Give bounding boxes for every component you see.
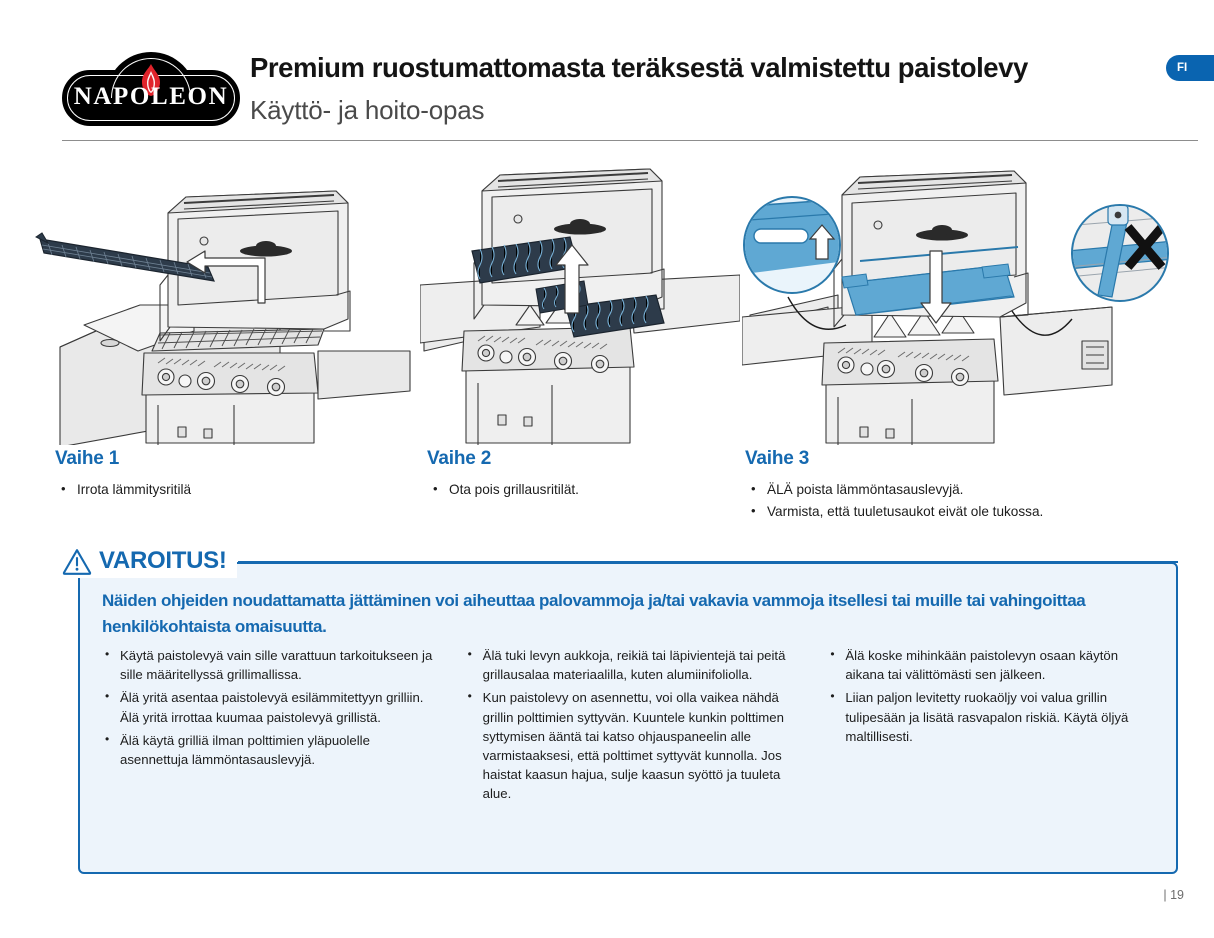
warning-bullet: Liian paljon levitetty ruokaöljy voi val…: [825, 688, 1160, 746]
step-3-caption: Vaihe 3 ÄLÄ poista lämmöntasauslevyjä. V…: [745, 448, 1165, 524]
step-2-title: Vaihe 2: [427, 448, 727, 470]
warning-box: Näiden ohjeiden noudattamatta jättäminen…: [78, 562, 1178, 874]
warning-bullet: Kun paistolevy on asennettu, voi olla va…: [463, 688, 798, 803]
header-divider: [62, 140, 1198, 141]
step-3-bullet-list: ÄLÄ poista lämmöntasauslevyjä. Varmista,…: [745, 480, 1165, 521]
step-2-bullet: Ota pois grillausritilät.: [427, 480, 727, 499]
page-number: | 19: [1163, 888, 1184, 902]
language-badge: FI: [1166, 55, 1214, 81]
warning-column-3: Älä koske mihinkään paistolevyn osaan kä…: [825, 646, 1160, 808]
step-2-caption: Vaihe 2 Ota pois grillausritilät.: [427, 448, 727, 502]
step-illustrations: [0, 155, 1214, 445]
step-captions: Vaihe 1 Irrota lämmitysritilä Vaihe 2 Ot…: [0, 448, 1214, 528]
step-2-bullet-list: Ota pois grillausritilät.: [427, 480, 727, 499]
step-1-caption: Vaihe 1 Irrota lämmitysritilä: [55, 448, 415, 502]
page-header: NAPOLEON Premium ruostumattomasta teräks…: [0, 0, 1214, 140]
page-subtitle: Käyttö- ja hoito-opas: [250, 95, 950, 126]
step-3-bullet: ÄLÄ poista lämmöntasauslevyjä.: [745, 480, 1165, 499]
step-2-figure: [420, 155, 740, 445]
warning-triangle-icon: [62, 548, 92, 575]
page-title: Premium ruostumattomasta teräksestä valm…: [250, 52, 1150, 84]
step-1-figure: [18, 155, 418, 445]
warning-header-rule: [238, 561, 1178, 563]
warning-bullet: Älä yritä asentaa paistolevyä esilämmite…: [100, 688, 435, 726]
warning-bullet: Käytä paistolevyä vain sille varattuun t…: [100, 646, 435, 684]
logo-wordmark: NAPOLEON: [62, 83, 240, 111]
warning-intro-text: Näiden ohjeiden noudattamatta jättäminen…: [102, 588, 1158, 640]
warning-columns: Käytä paistolevyä vain sille varattuun t…: [100, 646, 1160, 808]
warning-header: VAROITUS!: [62, 544, 237, 578]
manual-page: NAPOLEON Premium ruostumattomasta teräks…: [0, 0, 1214, 938]
warning-bullet: Älä tuki levyn aukkoja, reikiä tai läpiv…: [463, 646, 798, 684]
warning-label: VAROITUS!: [99, 547, 227, 575]
step-1-title: Vaihe 1: [55, 448, 415, 470]
step-1-bullet: Irrota lämmitysritilä: [55, 480, 415, 499]
warning-bullet: Älä koske mihinkään paistolevyn osaan kä…: [825, 646, 1160, 684]
step-3-figure: [742, 155, 1182, 445]
warning-column-2: Älä tuki levyn aukkoja, reikiä tai läpiv…: [463, 646, 798, 808]
warning-column-1: Käytä paistolevyä vain sille varattuun t…: [100, 646, 435, 808]
napoleon-logo: NAPOLEON: [62, 52, 240, 130]
step-1-bullet-list: Irrota lämmitysritilä: [55, 480, 415, 499]
warning-bullet: Älä käytä grilliä ilman polttimien yläpu…: [100, 731, 435, 769]
step-3-title: Vaihe 3: [745, 448, 1165, 470]
step-3-bullet: Varmista, että tuuletusaukot eivät ole t…: [745, 502, 1165, 521]
